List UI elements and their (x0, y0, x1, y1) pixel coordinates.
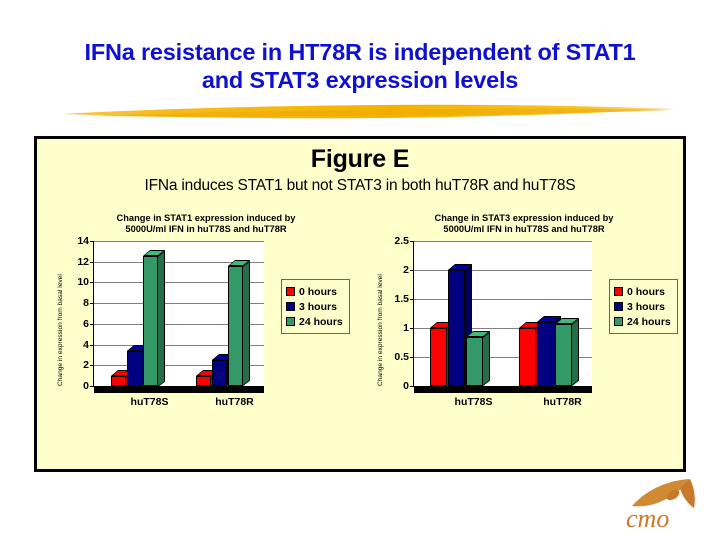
bar-huT78R-3-hours (537, 322, 554, 386)
gridline (414, 270, 592, 271)
bar-huT78R-0-hours (196, 376, 211, 386)
bar-huT78R-0-hours (519, 328, 536, 386)
bar-side-face (572, 318, 579, 386)
chart-stat1-title-line-1: Change in STAT1 expression induced by (45, 213, 367, 224)
chart-stat1-y-axis-label: Change in expression from basal level (57, 274, 64, 386)
legend-swatch-icon (286, 302, 295, 311)
legend-item-3-hours: 3 hours (286, 299, 343, 314)
legend-item-24-hours: 24 hours (614, 314, 671, 329)
brush-swoosh-icon (60, 100, 680, 124)
legend-label: 0 hours (627, 286, 665, 298)
bar-huT78S-24-hours (143, 256, 158, 387)
y-axis-tick-label: 12 (77, 256, 89, 268)
bar-front-face (537, 322, 554, 386)
y-axis-tick (90, 241, 94, 242)
y-axis-tick (90, 303, 94, 304)
bar-huT78S-24-hours (466, 337, 483, 386)
legend-item-0-hours: 0 hours (614, 284, 671, 299)
y-axis-tick-label: 2 (83, 359, 89, 371)
legend-swatch-icon (614, 302, 623, 311)
figure-panel: Figure E IFNa induces STAT1 but not STAT… (34, 136, 686, 472)
y-axis-tick (410, 270, 414, 271)
y-axis-tick-label: 2 (403, 264, 409, 276)
y-axis-tick-label: 10 (77, 276, 89, 288)
y-axis-tick (90, 282, 94, 283)
legend-swatch-icon (286, 317, 295, 326)
legend-label: 0 hours (299, 286, 337, 298)
gridline (94, 241, 264, 242)
y-axis-tick-label: 8 (83, 297, 89, 309)
chart-stat1-title: Change in STAT1 expression induced by 50… (45, 213, 367, 235)
y-axis-tick-label: 6 (83, 318, 89, 330)
bar-side-face (243, 260, 250, 386)
bar-side-face (158, 250, 165, 386)
chart-stat3: Change in STAT3 expression induced by 50… (367, 213, 681, 413)
y-axis-tick (410, 328, 414, 329)
y-axis-tick-label: 0 (403, 380, 409, 392)
chart-stat1-plot-area: 02468101214huT78ShuT78R (93, 241, 264, 387)
x-axis-tick-label: huT78S (131, 396, 169, 408)
chart-stat3-title-line-2: 5000U/ml IFN in huT78S and huT78R (367, 224, 681, 235)
legend-item-3-hours: 3 hours (614, 299, 671, 314)
y-axis-tick-label: 14 (77, 235, 89, 247)
bar-front-face (448, 270, 465, 386)
y-axis-tick (90, 324, 94, 325)
gridline (414, 241, 592, 242)
legend-swatch-icon (286, 287, 295, 296)
page-title-line-1: IFNa resistance in HT78R is independent … (0, 38, 720, 66)
y-axis-tick (410, 241, 414, 242)
chart-floor (94, 386, 264, 393)
bar-front-face (196, 376, 211, 386)
legend-label: 24 hours (627, 316, 671, 328)
bar-front-face (212, 360, 227, 386)
bar-huT78S-0-hours (430, 328, 447, 386)
bar-huT78R-24-hours (555, 324, 572, 386)
bar-front-face (519, 328, 536, 386)
page-title: IFNa resistance in HT78R is independent … (0, 38, 720, 94)
chart-stat3-plot-area: 00.511.522.5huT78ShuT78R (413, 241, 592, 387)
y-axis-tick-label: 2.5 (394, 235, 409, 247)
legend-item-0-hours: 0 hours (286, 284, 343, 299)
bar-front-face (555, 324, 572, 386)
legend-label: 3 hours (627, 301, 665, 313)
x-axis-tick-label: huT78S (455, 396, 493, 408)
y-axis-tick-label: 1 (403, 322, 409, 334)
legend-label: 3 hours (299, 301, 337, 313)
y-axis-tick (90, 345, 94, 346)
bar-huT78R-24-hours (228, 266, 243, 386)
chart-stat3-title: Change in STAT3 expression induced by 50… (367, 213, 681, 235)
chart-stat1-legend: 0 hours3 hours24 hours (281, 279, 350, 334)
y-axis-tick (410, 357, 414, 358)
chart-stat3-legend: 0 hours3 hours24 hours (609, 279, 678, 334)
chart-stat3-title-line-1: Change in STAT3 expression induced by (367, 213, 681, 224)
legend-swatch-icon (614, 287, 623, 296)
y-axis-tick (90, 365, 94, 366)
chart-stat1: Change in STAT1 expression induced by 50… (45, 213, 367, 413)
bar-front-face (143, 256, 158, 387)
legend-label: 24 hours (299, 316, 343, 328)
bar-front-face (228, 266, 243, 386)
cmo-logo: cmo (624, 478, 708, 534)
gridline (414, 299, 592, 300)
bar-side-face (483, 331, 490, 386)
y-axis-tick-label: 4 (83, 339, 89, 351)
chart-stat3-y-axis-label: Change in expression from basal level (377, 274, 384, 386)
cmo-wordmark: cmo (626, 506, 669, 532)
y-axis-tick (90, 262, 94, 263)
figure-subheading: IFNa induces STAT1 but not STAT3 in both… (37, 177, 683, 195)
bar-front-face (466, 337, 483, 386)
figure-heading: Figure E (37, 145, 683, 174)
bar-front-face (111, 376, 126, 386)
bar-huT78S-3-hours (448, 270, 465, 386)
x-axis-tick-label: huT78R (543, 396, 582, 408)
page-title-line-2: and STAT3 expression levels (0, 66, 720, 94)
chart-floor (414, 386, 592, 393)
chart-stat1-title-line-2: 5000U/ml IFN in huT78S and huT78R (45, 224, 367, 235)
bar-huT78S-3-hours (127, 351, 142, 386)
legend-swatch-icon (614, 317, 623, 326)
y-axis-tick-label: 0 (83, 380, 89, 392)
bar-huT78R-3-hours (212, 360, 227, 386)
y-axis-tick (410, 299, 414, 300)
legend-item-24-hours: 24 hours (286, 314, 343, 329)
y-axis-tick-label: 1.5 (394, 293, 409, 305)
x-axis-tick-label: huT78R (215, 396, 254, 408)
bar-huT78S-0-hours (111, 376, 126, 386)
bar-front-face (127, 351, 142, 386)
bar-front-face (430, 328, 447, 386)
y-axis-tick-label: 0.5 (394, 351, 409, 363)
